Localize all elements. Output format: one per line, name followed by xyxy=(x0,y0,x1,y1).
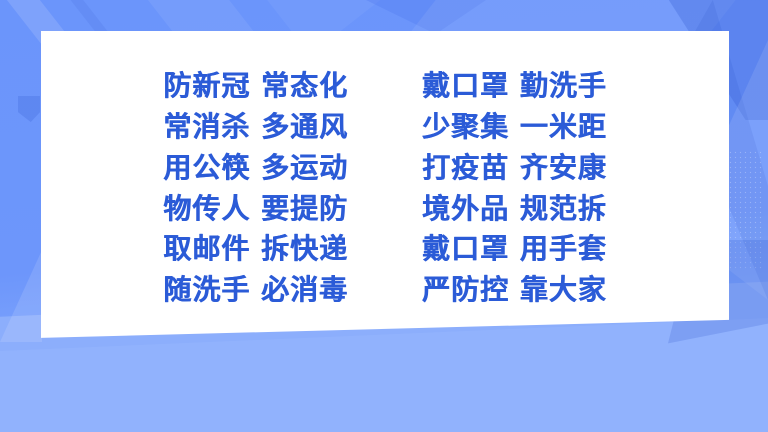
poster-canvas: 防新冠 常态化 常消杀 多通风 用公筷 多运动 物传人 要提防 取邮件 拆快递 … xyxy=(0,0,768,432)
white-content-panel xyxy=(41,31,729,341)
